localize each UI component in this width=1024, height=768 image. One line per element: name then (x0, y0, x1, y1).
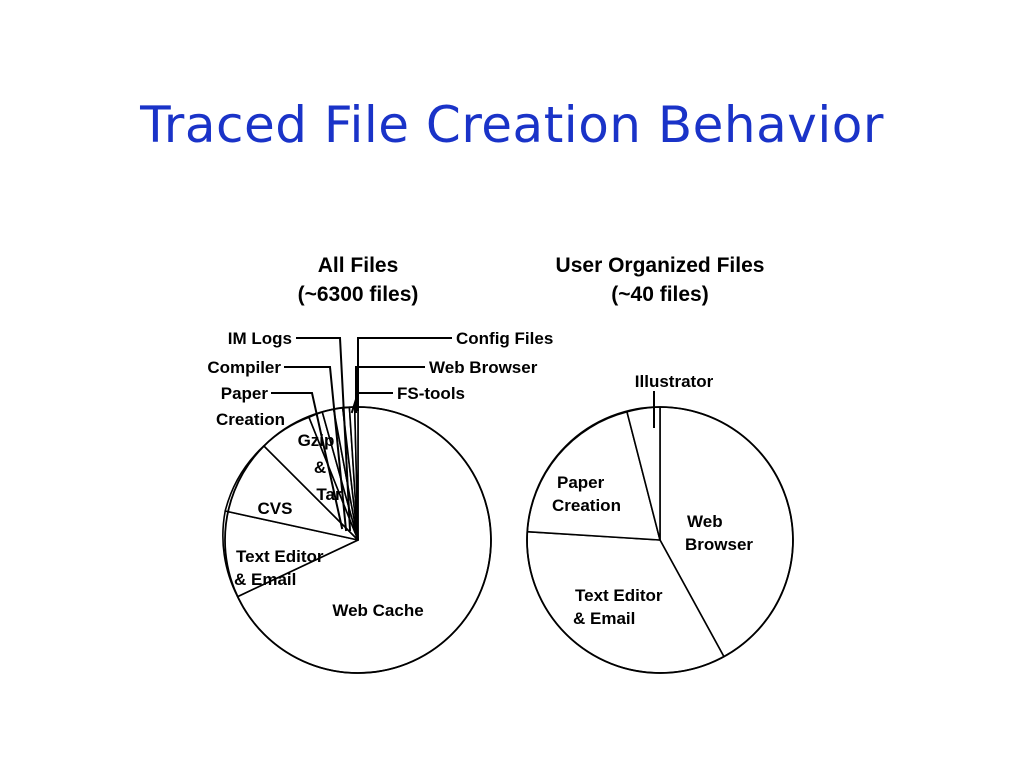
callout-label-paper-creation-line1: Paper (221, 384, 269, 403)
right-pie-chart (527, 407, 793, 673)
slice-label-text-editor-line2: & Email (234, 570, 296, 589)
slice-label-gzip-line1: Gzip (298, 431, 335, 450)
slice-label-text-editor-line1: Text Editor (236, 547, 324, 566)
pie-charts-figure: All Files (~6300 files) User Organized F… (0, 0, 1024, 768)
callout-label-illustrator: Illustrator (635, 372, 714, 391)
figure-container: All Files (~6300 files) User Organized F… (0, 0, 1024, 768)
callout-label-fs-tools: FS-tools (397, 384, 465, 403)
left-chart-subtitle: (~6300 files) (298, 283, 419, 306)
slice-label-right-paper-creation-line1: Paper (557, 473, 605, 492)
callout-label-im-logs: IM Logs (228, 329, 292, 348)
left-pie-chart (223, 407, 491, 673)
slice-label-gzip-line2: & (314, 458, 326, 477)
slice-label-right-text-editor-line1: Text Editor (575, 586, 663, 605)
left-chart-title-line1: All Files (318, 254, 399, 277)
slice-label-cvs: CVS (258, 499, 293, 518)
callout-label-config-files: Config Files (456, 329, 553, 348)
slice-label-gzip-line3: Tar (316, 485, 342, 504)
slice-label-right-web-browser-line1: Web (687, 512, 723, 531)
slice-label-right-web-browser-line2: Browser (685, 535, 753, 554)
slice-label-right-text-editor-line2: & Email (573, 609, 635, 628)
callout-label-compiler: Compiler (207, 358, 281, 377)
callout-label-web-browser: Web Browser (429, 358, 538, 377)
slice-label-right-paper-creation-line2: Creation (552, 496, 621, 515)
callout-label-paper-creation-line2: Creation (216, 410, 285, 429)
slice-label-web-cache: Web Cache (332, 601, 423, 620)
right-chart-subtitle: (~40 files) (611, 283, 708, 306)
right-chart-title-line1: User Organized Files (556, 254, 765, 277)
